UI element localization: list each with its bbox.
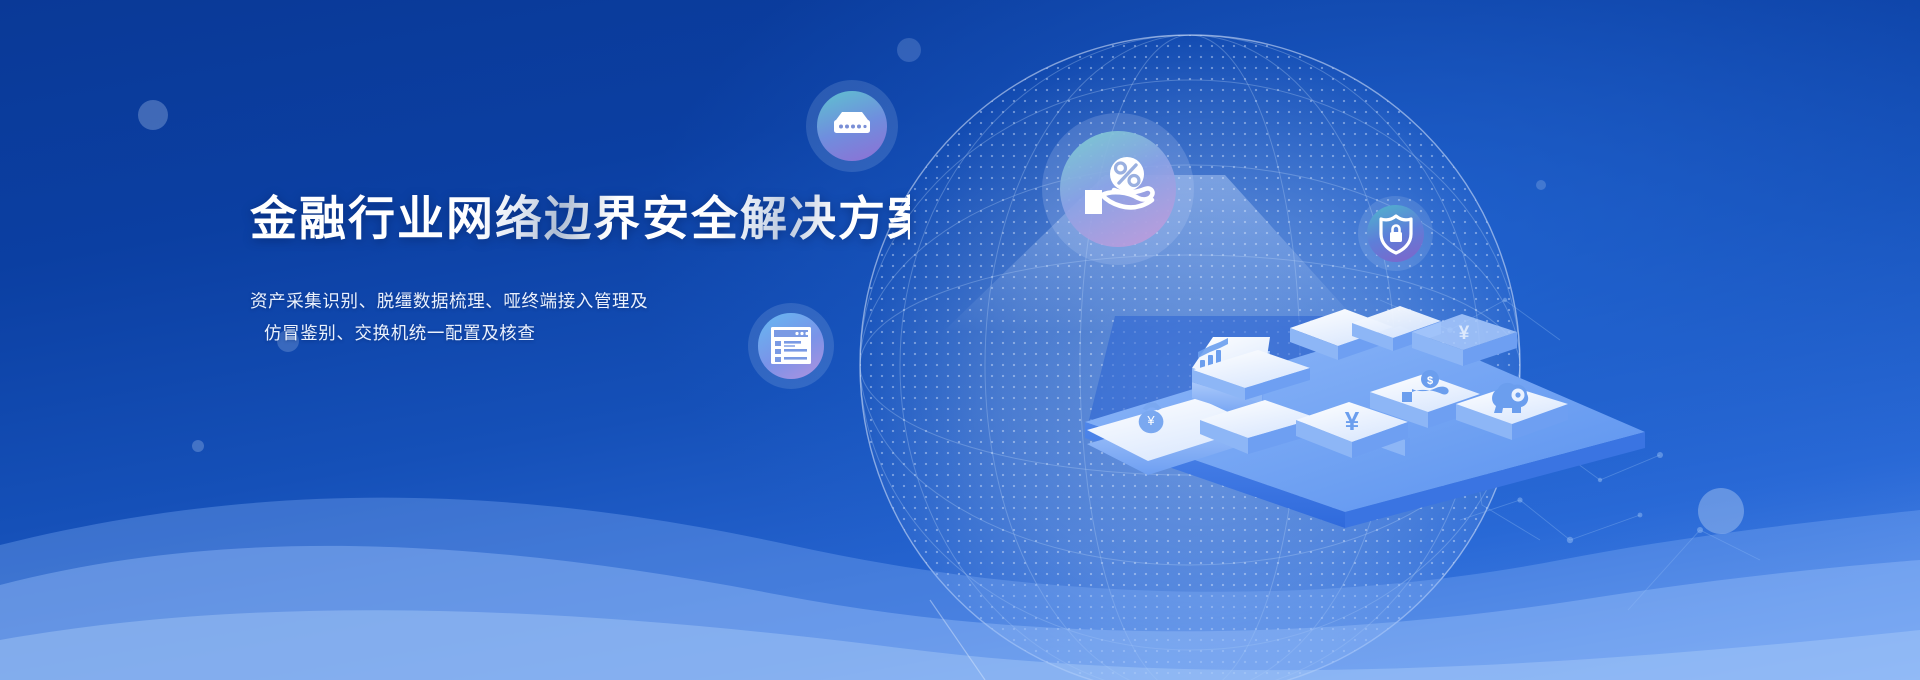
- network-switch-badge[interactable]: [806, 80, 898, 172]
- page-subtitle: 资产采集识别、脱缰数据梳理、哑终端接入管理及 仿冒鉴别、交换机统一配置及核查: [250, 285, 910, 349]
- shield-lock-badge[interactable]: [1358, 196, 1433, 271]
- subtitle-line-2: 仿冒鉴别、交换机统一配置及核查: [250, 317, 910, 349]
- hand-percent-icon: [1042, 113, 1194, 265]
- hand-percent-badge[interactable]: [1042, 113, 1194, 265]
- shield-lock-icon: [1358, 196, 1433, 271]
- network-switch-icon: [806, 80, 898, 172]
- page-title: 金融行业网络边界安全解决方案: [250, 193, 910, 246]
- banner-text-block: 金融行业网络边界安全解决方案 资产采集识别、脱缰数据梳理、哑终端接入管理及 仿冒…: [250, 193, 910, 349]
- finance-security-banner: ¥: [0, 0, 1920, 680]
- subtitle-line-1: 资产采集识别、脱缰数据梳理、哑终端接入管理及: [250, 285, 910, 317]
- deco-dot-5: [1698, 488, 1744, 534]
